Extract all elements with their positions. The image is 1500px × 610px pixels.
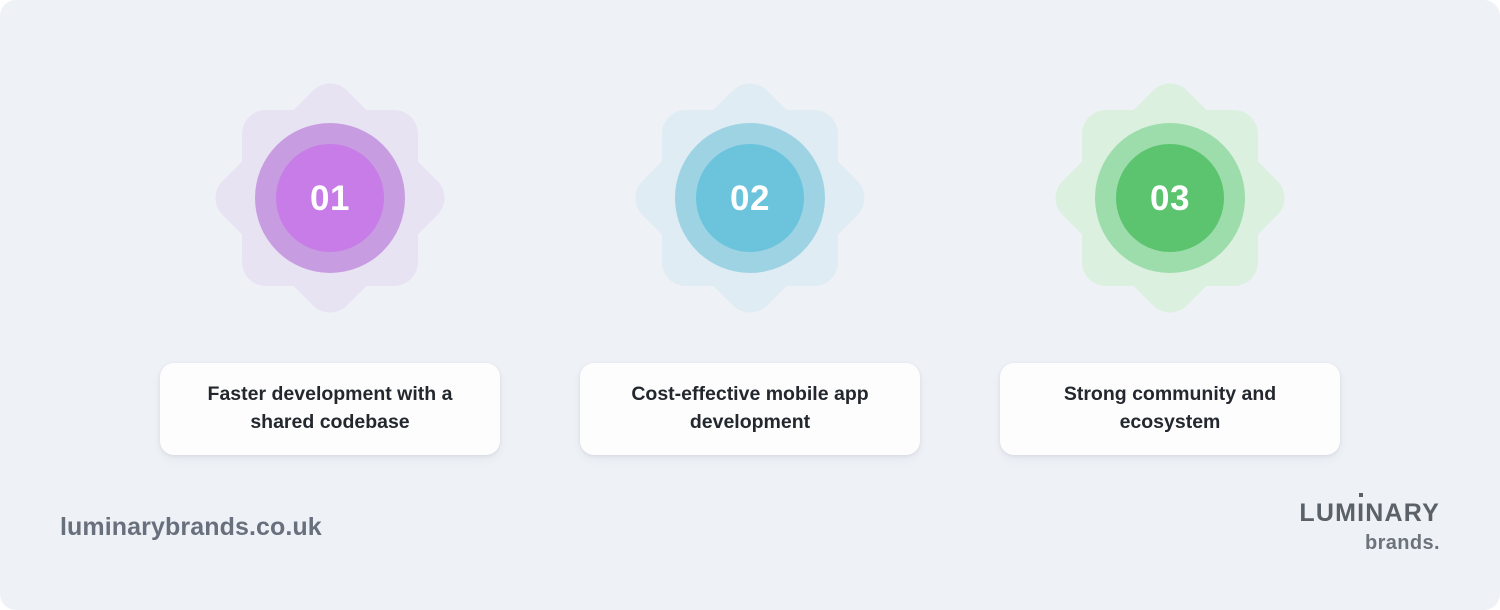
step-caption-3: Strong community and ecosystem bbox=[1026, 381, 1314, 436]
infographic-canvas: 01 Faster development with a shared code… bbox=[0, 0, 1500, 610]
step-caption-2: Cost-effective mobile app development bbox=[606, 381, 894, 436]
step-card-2: Cost-effective mobile app development bbox=[580, 363, 920, 455]
step-column-3: 03 Strong community and ecosystem bbox=[1000, 73, 1340, 455]
badge-core-2: 02 bbox=[696, 144, 804, 252]
step-badge-2: 02 bbox=[625, 73, 875, 323]
step-number-2: 02 bbox=[730, 181, 770, 216]
logo-text-nary: NARY bbox=[1365, 501, 1440, 526]
step-number-3: 03 bbox=[1150, 181, 1190, 216]
step-column-1: 01 Faster development with a shared code… bbox=[160, 73, 500, 455]
logo-i-dot-icon bbox=[1359, 493, 1363, 497]
step-column-2: 02 Cost-effective mobile app development bbox=[580, 73, 920, 455]
step-badge-1: 01 bbox=[205, 73, 455, 323]
logo-wordmark-primary: LUM I NARY bbox=[1299, 501, 1440, 526]
step-number-1: 01 bbox=[310, 181, 350, 216]
logo-text-lum: LUM bbox=[1299, 501, 1357, 526]
logo-i-stem: I bbox=[1357, 499, 1365, 527]
step-badge-3: 03 bbox=[1045, 73, 1295, 323]
site-url[interactable]: luminarybrands.co.uk bbox=[60, 513, 322, 542]
logo-wordmark-secondary: brands. bbox=[1365, 533, 1440, 553]
step-caption-1: Faster development with a shared codebas… bbox=[186, 381, 474, 436]
footer: luminarybrands.co.uk LUM I NARY brands. bbox=[0, 480, 1500, 610]
badge-core-3: 03 bbox=[1116, 144, 1224, 252]
badge-core-1: 01 bbox=[276, 144, 384, 252]
luminary-brands-logo: LUM I NARY brands. bbox=[1299, 501, 1440, 553]
logo-dotted-i: I bbox=[1357, 501, 1365, 526]
step-card-1: Faster development with a shared codebas… bbox=[160, 363, 500, 455]
steps-row: 01 Faster development with a shared code… bbox=[0, 0, 1500, 470]
step-card-3: Strong community and ecosystem bbox=[1000, 363, 1340, 455]
